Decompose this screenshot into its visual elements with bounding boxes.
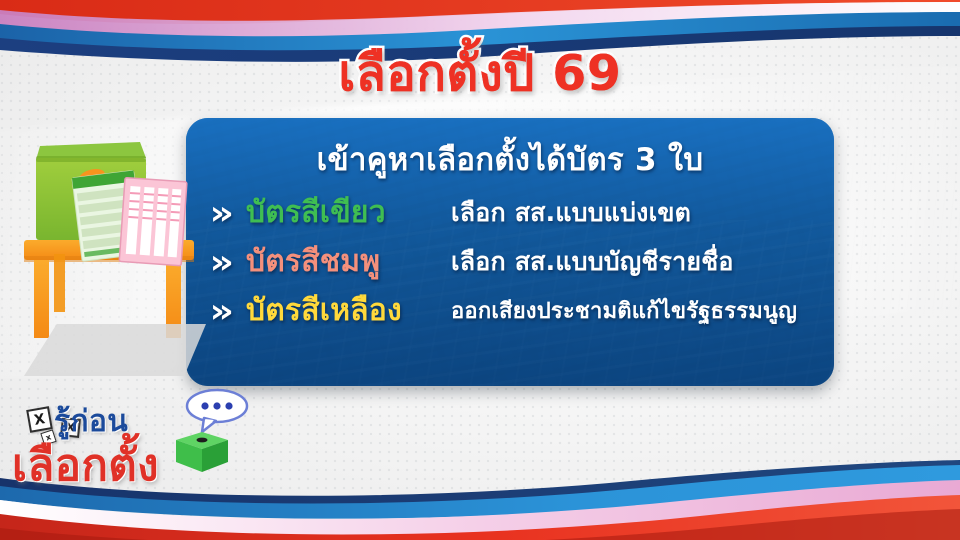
ballot-card-name-yellow: บัตรสีเหลือง xyxy=(246,287,451,334)
pink-ballot-paper xyxy=(119,178,187,266)
logo-line-lueaktang: เลือกตั้ง xyxy=(12,430,159,500)
panel-headline: เข้าคูหาเลือกตั้งได้บัตร 3 ใบ xyxy=(186,134,834,184)
page-title-outline: เลือกตั้งปี 69 xyxy=(0,48,960,99)
checkbox-x-mark: X xyxy=(33,412,46,428)
ballot-card-name-green: บัตรสีเขียว xyxy=(246,189,451,236)
green-ballot-cube-icon xyxy=(176,432,228,472)
logo-ballot-cube-and-bubble xyxy=(162,388,256,474)
ballot-desc-pink: เลือก สส.แบบบัญชีรายชื่อ xyxy=(451,242,734,282)
ballot-row-pink: » บัตรสีชมพู เลือก สส.แบบบัญชีรายชื่อ xyxy=(212,237,820,286)
ballot-desc-green: เลือก สส.แบบแบ่งเขต xyxy=(451,193,691,233)
ballot-card-name-pink: บัตรสีชมพู xyxy=(246,238,451,285)
ballot-row-yellow: » บัตรสีเหลือง ออกเสียงประชามติแก้ไขรัฐธ… xyxy=(212,286,820,335)
ballot-desc-yellow: ออกเสียงประชามติแก้ไขรัฐธรรมนูญ xyxy=(451,293,797,328)
infographic-canvas: เลือกตั้งปี 69 เลือกตั้งปี 69 xyxy=(0,0,960,540)
program-logo: X X x รู้ก่อน เลือกตั้ง xyxy=(6,392,256,508)
speech-bubble-icon xyxy=(187,390,247,432)
ballot-list: » บัตรสีเขียว เลือก สส.แบบแบ่งเขต » บัตร… xyxy=(212,188,820,335)
ballot-box-illustration: กกต xyxy=(18,128,218,388)
info-panel: เข้าคูหาเลือกตั้งได้บัตร 3 ใบ » บัตรสีเข… xyxy=(186,118,834,386)
ballot-row-green: » บัตรสีเขียว เลือก สส.แบบแบ่งเขต xyxy=(212,188,820,237)
checkbox-x-icon-1: X xyxy=(26,406,53,433)
